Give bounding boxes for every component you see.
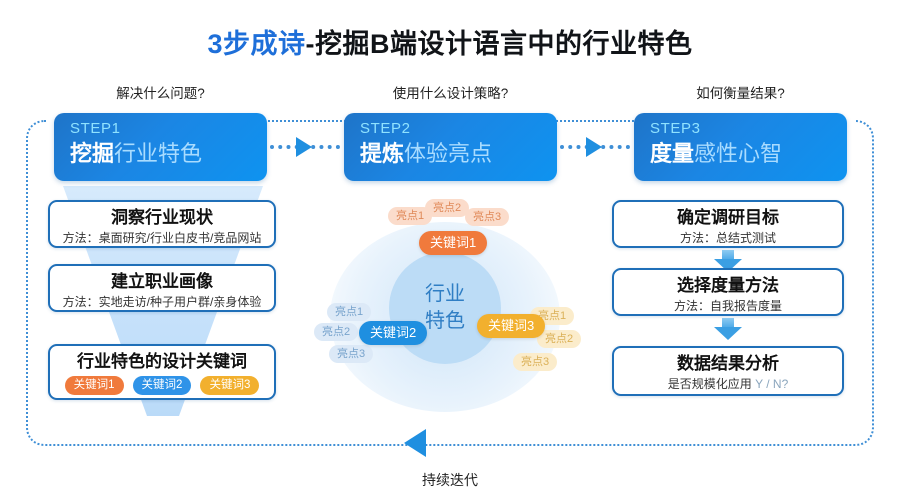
right-card-3-method-text: 是否规模化应用 [668, 377, 752, 391]
arrow-down-icon-2 [714, 318, 742, 340]
right-card-2-method: 方法：自我报告度量 [614, 297, 842, 315]
step2-title-bold: 提炼 [360, 141, 404, 166]
arrow-head [714, 327, 742, 340]
step1-title: 挖掘行业特色 [70, 139, 267, 169]
center-node-1[interactable]: 关键词1 [419, 231, 487, 255]
left-card-1[interactable]: 洞察行业现状 方法：桌面研究/行业白皮书/竞品网站 [48, 200, 276, 248]
arrow-right-icon [296, 137, 312, 157]
right-card-1-method: 方法：总结式测试 [614, 229, 842, 247]
step2-title-light: 体验亮点 [404, 141, 492, 166]
right-card-2[interactable]: 选择度量方法 方法：自我报告度量 [612, 268, 844, 316]
step2-title: 提炼体验亮点 [360, 139, 557, 169]
loop-arrow-icon [404, 429, 426, 457]
step3-number: STEP3 [650, 120, 847, 138]
step3-title: 度量感性心智 [650, 139, 847, 169]
step3-title-light: 感性心智 [694, 141, 782, 166]
title-highlight: 3步成诗 [207, 29, 305, 59]
left-card-2-heading: 建立职业画像 [50, 271, 274, 293]
right-card-3-method-dim: Y / N? [755, 377, 788, 391]
left-card-3[interactable]: 行业特色的设计关键词 关键词1 关键词2 关键词3 [48, 344, 276, 400]
keyword-pill-1[interactable]: 关键词1 [65, 376, 124, 395]
step-card-1[interactable]: STEP1 挖掘行业特色 [54, 113, 267, 181]
center-core: 行业 特色 [389, 252, 501, 364]
node2-highlight-1: 亮点1 [327, 303, 371, 321]
node2-highlight-3: 亮点3 [329, 345, 373, 363]
right-card-2-heading: 选择度量方法 [614, 275, 842, 297]
node2-highlight-2: 亮点2 [314, 323, 358, 341]
keyword-pill-2[interactable]: 关键词2 [133, 376, 192, 395]
right-card-3[interactable]: 数据结果分析 是否规模化应用 Y / N? [612, 346, 844, 396]
step2-number: STEP2 [360, 120, 557, 138]
step3-title-bold: 度量 [650, 141, 694, 166]
node1-highlight-3: 亮点3 [465, 208, 509, 226]
center-core-line1: 行业 [425, 281, 465, 308]
step2-question: 使用什么设计策略? [344, 82, 557, 102]
center-core-line2: 特色 [425, 308, 465, 335]
center-node-2[interactable]: 关键词2 [359, 321, 427, 345]
left-card-2[interactable]: 建立职业画像 方法：实地走访/种子用户群/亲身体验 [48, 264, 276, 312]
left-card-1-heading: 洞察行业现状 [50, 207, 274, 229]
right-card-1[interactable]: 确定调研目标 方法：总结式测试 [612, 200, 844, 248]
step1-title-bold: 挖掘 [70, 141, 114, 166]
step-card-3[interactable]: STEP3 度量感性心智 [634, 113, 847, 181]
left-card-1-method: 方法：桌面研究/行业白皮书/竞品网站 [50, 229, 274, 247]
step1-question: 解决什么问题? [54, 82, 267, 102]
center-node-3[interactable]: 关键词3 [477, 314, 545, 338]
node3-highlight-2: 亮点2 [537, 330, 581, 348]
connector-step1-step2 [270, 145, 340, 149]
title-rest: -挖掘B端设计语言中的行业特色 [306, 29, 693, 59]
right-card-3-method: 是否规模化应用 Y / N? [614, 375, 842, 393]
diagram-canvas: 3步成诗-挖掘B端设计语言中的行业特色 持续迭代 解决什么问题? 使用什么设计策… [0, 0, 900, 504]
step1-number: STEP1 [70, 120, 267, 138]
page-title: 3步成诗-挖掘B端设计语言中的行业特色 [0, 22, 900, 61]
connector-step2-step3 [560, 145, 630, 149]
node1-highlight-2: 亮点2 [425, 199, 469, 217]
step3-question: 如何衡量结果? [634, 82, 847, 102]
step1-title-light: 行业特色 [114, 141, 202, 166]
keyword-pill-row: 关键词1 关键词2 关键词3 [50, 376, 274, 395]
left-card-3-heading: 行业特色的设计关键词 [50, 351, 274, 373]
node3-highlight-3: 亮点3 [513, 353, 557, 371]
step-card-2[interactable]: STEP2 提炼体验亮点 [344, 113, 557, 181]
keyword-pill-3[interactable]: 关键词3 [200, 376, 259, 395]
loop-label: 持续迭代 [0, 470, 900, 490]
right-card-1-heading: 确定调研目标 [614, 207, 842, 229]
arrow-right-icon [586, 137, 602, 157]
left-card-2-method: 方法：实地走访/种子用户群/亲身体验 [50, 293, 274, 311]
right-card-3-heading: 数据结果分析 [614, 353, 842, 375]
